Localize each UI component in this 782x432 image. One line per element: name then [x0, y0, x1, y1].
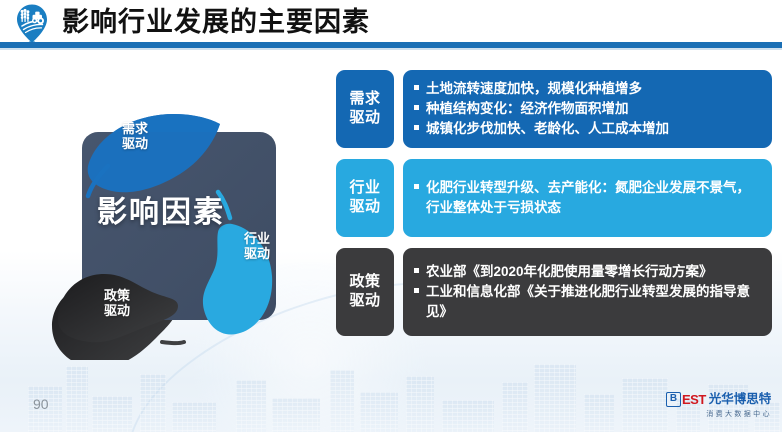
- skyline-building: [272, 398, 320, 432]
- factor-tag-policy: 政策 驱动: [336, 248, 394, 336]
- factor-body-demand: 土地流转速度加快，规模化种植增多 种植结构变化：经济作物面积增加 城镇化步伐加快…: [403, 70, 772, 148]
- factor-tag-line1: 行业: [349, 179, 380, 198]
- skyline-building: [92, 396, 132, 432]
- page-number: 90: [33, 396, 49, 412]
- factor-body-policy: 农业部《到2020年化肥使用量零增长行动方案》 工业和信息化部《关于推进化肥行业…: [403, 248, 772, 336]
- page-title: 影响行业发展的主要因素: [62, 5, 370, 39]
- factor-tag-line1: 需求: [349, 90, 380, 109]
- influence-factors-diagram: 影响因素 需求 驱动 行业 驱动 政策 驱动: [36, 84, 326, 360]
- factor-tag-demand: 需求 驱动: [336, 70, 394, 148]
- factor-row-industry: 行业 驱动 化肥行业转型升级、去产能化：氮肥企业发展不景气，行业整体处于亏损状态: [336, 159, 772, 237]
- brand-logo: B EST 光华博思特 消费大数据中心: [666, 392, 772, 419]
- factor-row-policy: 政策 驱动 农业部《到2020年化肥使用量零增长行动方案》 工业和信息化部《关于…: [336, 248, 772, 336]
- factor-rows: 需求 驱动 土地流转速度加快，规模化种植增多 种植结构变化：经济作物面积增加 城…: [336, 70, 772, 347]
- bullet-item: 工业和信息化部《关于推进化肥行业转型发展的指导意见》: [413, 282, 761, 322]
- skyline-building: [502, 382, 528, 432]
- bullet-item: 种植结构变化：经济作物面积增加: [413, 99, 761, 119]
- factor-tag-industry: 行业 驱动: [336, 159, 394, 237]
- policy-blob-stem: [162, 342, 184, 343]
- skyline-building: [330, 370, 354, 432]
- brand-logo-top: B EST 光华博思特: [666, 392, 772, 407]
- factor-body-industry: 化肥行业转型升级、去产能化：氮肥企业发展不景气，行业整体处于亏损状态: [403, 159, 772, 237]
- bullet-item: 化肥行业转型升级、去产能化：氮肥企业发展不景气，行业整体处于亏损状态: [413, 178, 761, 218]
- skyline-building: [442, 400, 494, 432]
- skyline-building: [236, 380, 266, 432]
- factor-tag-line1: 政策: [349, 273, 380, 292]
- skyline-building: [534, 364, 576, 432]
- skyline-building: [172, 402, 216, 432]
- bullet-item: 土地流转速度加快，规模化种植增多: [413, 79, 761, 99]
- header-accent-rule-light: [0, 48, 782, 50]
- skyline-building: [360, 392, 398, 432]
- factor-tag-line2: 驱动: [349, 109, 380, 128]
- farm-location-pin-icon: [11, 3, 53, 45]
- slide-header: 影响行业发展的主要因素: [0, 0, 782, 48]
- brand-chinese-text: 光华博思特: [709, 393, 772, 406]
- brand-latin-text: EST: [682, 393, 706, 406]
- brand-subtitle: 消费大数据中心: [666, 409, 772, 419]
- factor-tag-line2: 驱动: [349, 292, 380, 311]
- skyline-building: [406, 376, 434, 432]
- brand-mark-icon: B: [666, 392, 681, 407]
- skyline-building: [140, 374, 166, 432]
- skyline-building: [66, 366, 88, 432]
- skyline-building: [584, 394, 614, 432]
- factor-row-demand: 需求 驱动 土地流转速度加快，规模化种植增多 种植结构变化：经济作物面积增加 城…: [336, 70, 772, 148]
- bullet-item: 农业部《到2020年化肥使用量零增长行动方案》: [413, 262, 761, 282]
- slide: 影响行业发展的主要因素: [0, 0, 782, 432]
- skyline-building: [622, 378, 668, 432]
- factor-tag-line2: 驱动: [349, 198, 380, 217]
- bullet-item: 城镇化步伐加快、老龄化、人工成本增加: [413, 119, 761, 139]
